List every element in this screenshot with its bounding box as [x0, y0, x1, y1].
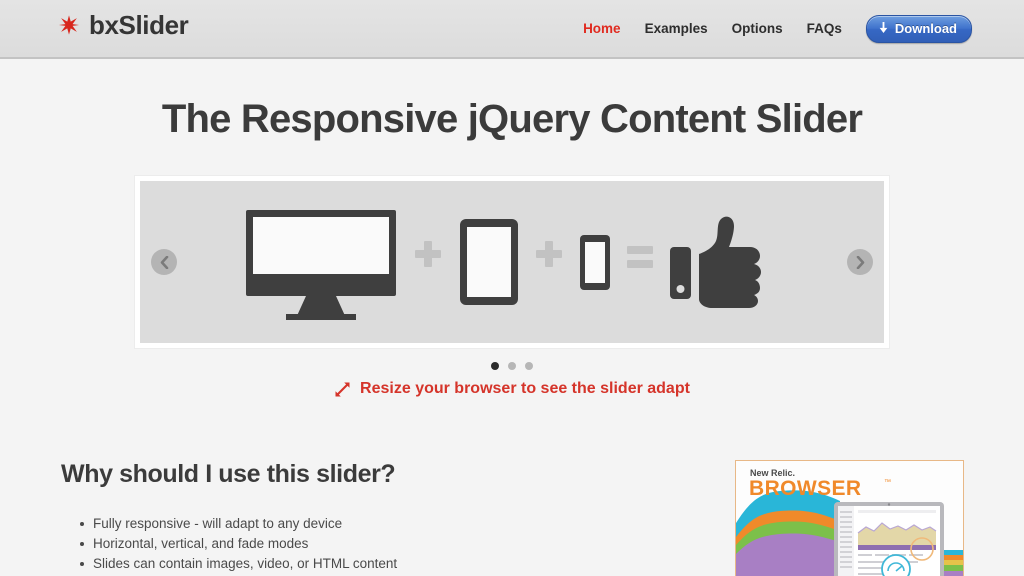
nav-item-examples[interactable]: Examples — [645, 21, 708, 36]
resize-hint: Resize your browser to see the slider ad… — [0, 380, 1024, 398]
resize-diagonal-arrows-icon — [334, 381, 351, 398]
pager-dot-1[interactable] — [491, 362, 499, 370]
nav-item-home[interactable]: Home — [583, 21, 621, 36]
pager-dot-2[interactable] — [508, 362, 516, 370]
slider-next-button[interactable] — [847, 249, 873, 275]
pager-dot-3[interactable] — [525, 362, 533, 370]
devices-equation-graphic — [242, 202, 782, 322]
logo-text: bxSlider — [89, 12, 188, 38]
nav-item-options[interactable]: Options — [732, 21, 783, 36]
svg-text:BROWSER: BROWSER — [749, 477, 861, 500]
nav-item-faqs[interactable]: FAQs — [807, 21, 842, 36]
chevron-left-icon — [159, 256, 170, 269]
slider-pager — [0, 362, 1024, 370]
red-star-icon — [58, 14, 80, 36]
download-button[interactable]: Download — [866, 15, 972, 43]
page-title: The Responsive jQuery Content Slider — [0, 97, 1024, 142]
chevron-right-icon — [855, 256, 866, 269]
slide-current[interactable] — [140, 181, 884, 343]
feature-list: Fully responsive - will adapt to any dev… — [78, 514, 397, 574]
list-item: Fully responsive - will adapt to any dev… — [78, 514, 397, 534]
main-nav: Home Examples Options FAQs Download — [583, 0, 972, 57]
slider-viewport — [135, 176, 889, 348]
download-arrow-icon — [878, 22, 889, 34]
ad-artwork: New Relic. BROWSER ™ — [736, 461, 964, 576]
download-button-label: Download — [895, 21, 957, 36]
section-title-why: Why should I use this slider? — [61, 460, 395, 489]
page-root: bxSlider Home Examples Options FAQs Down… — [0, 0, 1024, 576]
site-header: bxSlider Home Examples Options FAQs Down… — [0, 0, 1024, 59]
svg-text:™: ™ — [884, 479, 891, 486]
slider-prev-button[interactable] — [151, 249, 177, 275]
list-item: Horizontal, vertical, and fade modes — [78, 534, 397, 554]
site-logo[interactable]: bxSlider — [58, 12, 188, 38]
resize-hint-text: Resize your browser to see the slider ad… — [360, 380, 690, 398]
ad-banner-new-relic[interactable]: New Relic. BROWSER ™ — [735, 460, 964, 576]
list-item: Slides can contain images, video, or HTM… — [78, 554, 397, 574]
